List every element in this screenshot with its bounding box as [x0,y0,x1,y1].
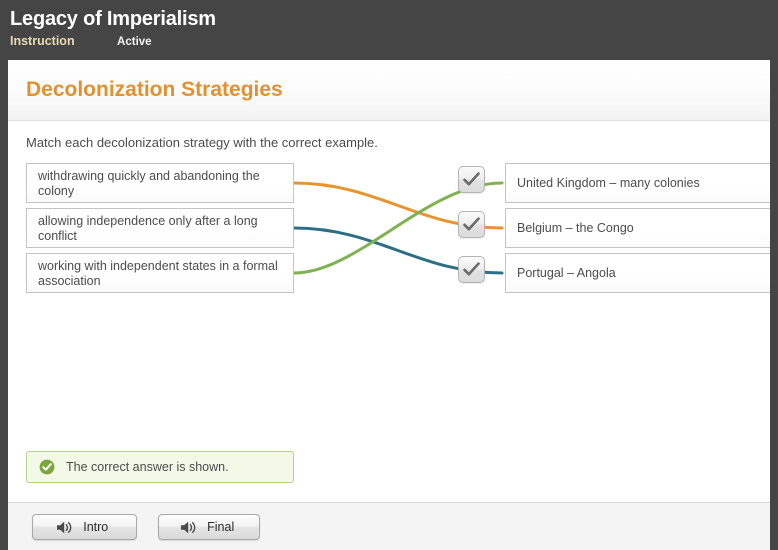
header-state-label: Active [117,36,152,48]
intro-audio-button[interactable]: Intro [32,514,137,540]
match-checkbox[interactable] [458,256,485,283]
check-icon [459,257,484,282]
answer-box[interactable]: United Kingdom – many colonies [505,163,770,203]
instruction-text: Match each decolonization strategy with … [26,135,770,151]
feedback-alert: The correct answer is shown. [26,451,294,483]
app-header: Legacy of Imperialism Instruction Active [0,0,778,60]
header-mode-label: Instruction [10,34,75,48]
activity-card: Decolonization Strategies Match each dec… [8,60,770,502]
final-audio-button[interactable]: Final [158,514,260,540]
speaker-icon [56,519,73,543]
card-body: Match each decolonization strategy with … [8,121,770,501]
footer-toolbar: Intro Final [8,502,770,550]
prompt-box[interactable]: working with independent states in a for… [26,253,294,293]
matching-area: withdrawing quickly and abandoning the c… [18,163,770,303]
app-title: Legacy of Imperialism [10,7,778,31]
page-title: Decolonization Strategies [26,78,770,102]
card-header: Decolonization Strategies [8,60,770,121]
check-icon [459,212,484,237]
prompt-box[interactable]: withdrawing quickly and abandoning the c… [26,163,294,203]
match-checkbox[interactable] [458,166,485,193]
prompt-box[interactable]: allowing independence only after a long … [26,208,294,248]
feedback-text: The correct answer is shown. [66,460,229,474]
match-checkbox[interactable] [458,211,485,238]
intro-audio-label: Intro [83,515,108,539]
final-audio-label: Final [207,515,234,539]
check-circle-icon [39,459,55,475]
speaker-icon [180,519,197,543]
header-meta: Instruction Active [10,33,778,50]
answer-box[interactable]: Portugal – Angola [505,253,770,293]
check-icon [459,167,484,192]
answer-box[interactable]: Belgium – the Congo [505,208,770,248]
